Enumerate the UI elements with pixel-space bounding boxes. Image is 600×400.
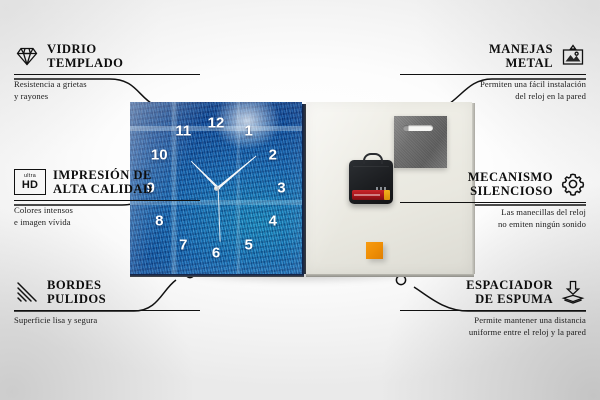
hanger-slot	[403, 125, 433, 131]
feature-divider	[14, 74, 200, 76]
feature-desc-line-2: no emiten ningún sonido	[400, 219, 586, 231]
polished-edge-lines-icon	[14, 279, 40, 305]
feature-header: ultra HD IMPRESIÓN DE ALTA CALIDAD	[14, 168, 200, 197]
feature-description: Permiten una fácil instalación del reloj…	[400, 79, 586, 102]
feature-header: MECANISMO SILENCIOSO	[400, 170, 586, 199]
feature-title-line-1: IMPRESIÓN DE	[53, 168, 153, 182]
feature-header: BORDES PULIDOS	[14, 278, 200, 307]
back-panel-edge-bottom	[306, 274, 474, 277]
feature-desc-line-2: uniforme entre el reloj y la pared	[400, 327, 586, 339]
picture-hanger-icon	[560, 43, 586, 69]
feature-title-line-2: ALTA CALIDAD	[53, 182, 153, 196]
feature-description: Superficie lisa y segura	[14, 315, 200, 327]
feature-title-line-2: PULIDOS	[47, 292, 106, 306]
feature-desc-line-1: Superficie lisa y segura	[14, 315, 200, 327]
feature-desc-line-2: del reloj en la pared	[400, 91, 586, 103]
feature-title: IMPRESIÓN DE ALTA CALIDAD	[53, 168, 153, 197]
feature-mecanismo-silencioso: MECANISMO SILENCIOSO Las manecillas del …	[400, 170, 586, 231]
clock-numeral-1: 1	[245, 124, 253, 139]
feature-desc-line-1: Las manecillas del reloj	[400, 207, 586, 219]
clock-numeral-2: 2	[269, 148, 277, 163]
feature-title-line-2: SILENCIOSO	[468, 184, 553, 198]
feature-header: VIDRIO TEMPLADO	[14, 42, 200, 71]
glass-edge-bottom	[130, 274, 304, 277]
feature-title-line-1: BORDES	[47, 278, 106, 292]
feature-desc-line-2: e imagen vívida	[14, 217, 200, 229]
ultra-hd-badge-main-text: HD	[22, 180, 38, 191]
feature-desc-line-2: y rayones	[14, 91, 200, 103]
feature-title-line-1: VIDRIO	[47, 42, 123, 56]
clock-mechanism-box	[349, 160, 393, 204]
feature-title: ESPACIADOR DE ESPUMA	[466, 278, 553, 307]
feature-description: Colores intensos e imagen vívida	[14, 205, 200, 228]
infographic-canvas: 12 1 2 3 4 5 6 7 8 9 10 11	[0, 0, 600, 400]
metal-hanger-plate	[394, 116, 447, 168]
feature-divider	[400, 74, 586, 76]
feature-manejas-metal: MANEJAS METAL Permiten una fácil instala…	[400, 42, 586, 103]
feature-description: Resistencia a grietas y rayones	[14, 79, 200, 102]
feature-header: ESPACIADOR DE ESPUMA	[400, 278, 586, 307]
mechanism-markings	[376, 187, 388, 190]
clock-numeral-7: 7	[179, 237, 187, 252]
feature-title-line-1: MANEJAS	[489, 42, 553, 56]
feature-title: MANEJAS METAL	[489, 42, 553, 71]
feature-impresion-alta-calidad: ultra HD IMPRESIÓN DE ALTA CALIDAD Color…	[14, 168, 200, 229]
feature-title-line-2: TEMPLADO	[47, 56, 123, 70]
mechanism-body-detail	[353, 166, 389, 186]
aa-battery	[352, 190, 386, 200]
clock-center-pin	[214, 186, 219, 191]
feature-desc-line-1: Permite mantener una distancia	[400, 315, 586, 327]
feature-title-line-2: DE ESPUMA	[466, 292, 553, 306]
gear-icon	[560, 171, 586, 197]
feature-description: Las manecillas del reloj no emiten ningú…	[400, 207, 586, 230]
clock-numeral-4: 4	[269, 213, 277, 228]
feature-title-line-2: METAL	[489, 56, 553, 70]
feature-description: Permite mantener una distancia uniforme …	[400, 315, 586, 338]
feature-title: MECANISMO SILENCIOSO	[468, 170, 553, 199]
feature-title-line-1: ESPACIADOR	[466, 278, 553, 292]
foam-spacer	[366, 242, 383, 259]
clock-numeral-10: 10	[151, 148, 168, 163]
clock-numeral-5: 5	[245, 237, 253, 252]
feature-vidrio-templado: VIDRIO TEMPLADO Resistencia a grietas y …	[14, 42, 200, 103]
battery-terminal	[384, 190, 390, 200]
down-arrow-pad-icon	[560, 279, 586, 305]
feature-desc-line-1: Colores intensos	[14, 205, 200, 217]
ultra-hd-badge-icon: ultra HD	[14, 169, 46, 195]
feature-espaciador-de-espuma: ESPACIADOR DE ESPUMA Permite mantener un…	[400, 278, 586, 339]
clock-numeral-3: 3	[277, 181, 285, 196]
feature-divider	[14, 310, 200, 312]
feature-divider	[400, 202, 586, 204]
clock-numeral-6: 6	[212, 246, 220, 261]
feature-divider	[400, 310, 586, 312]
feature-title-line-1: MECANISMO	[468, 170, 553, 184]
feature-header: MANEJAS METAL	[400, 42, 586, 71]
diamond-icon	[14, 43, 40, 69]
clock-numeral-12: 12	[208, 115, 225, 130]
feature-bordes-pulidos: BORDES PULIDOS Superficie lisa y segura	[14, 278, 200, 327]
feature-title: BORDES PULIDOS	[47, 278, 106, 307]
hanger-texture	[394, 116, 447, 168]
mechanism-hanging-loop	[363, 153, 383, 164]
feature-title: VIDRIO TEMPLADO	[47, 42, 123, 71]
battery-label-band	[354, 194, 380, 196]
clock-numeral-11: 11	[175, 124, 191, 139]
feature-desc-line-1: Resistencia a grietas	[14, 79, 200, 91]
feature-desc-line-1: Permiten una fácil instalación	[400, 79, 586, 91]
feature-divider	[14, 200, 200, 202]
